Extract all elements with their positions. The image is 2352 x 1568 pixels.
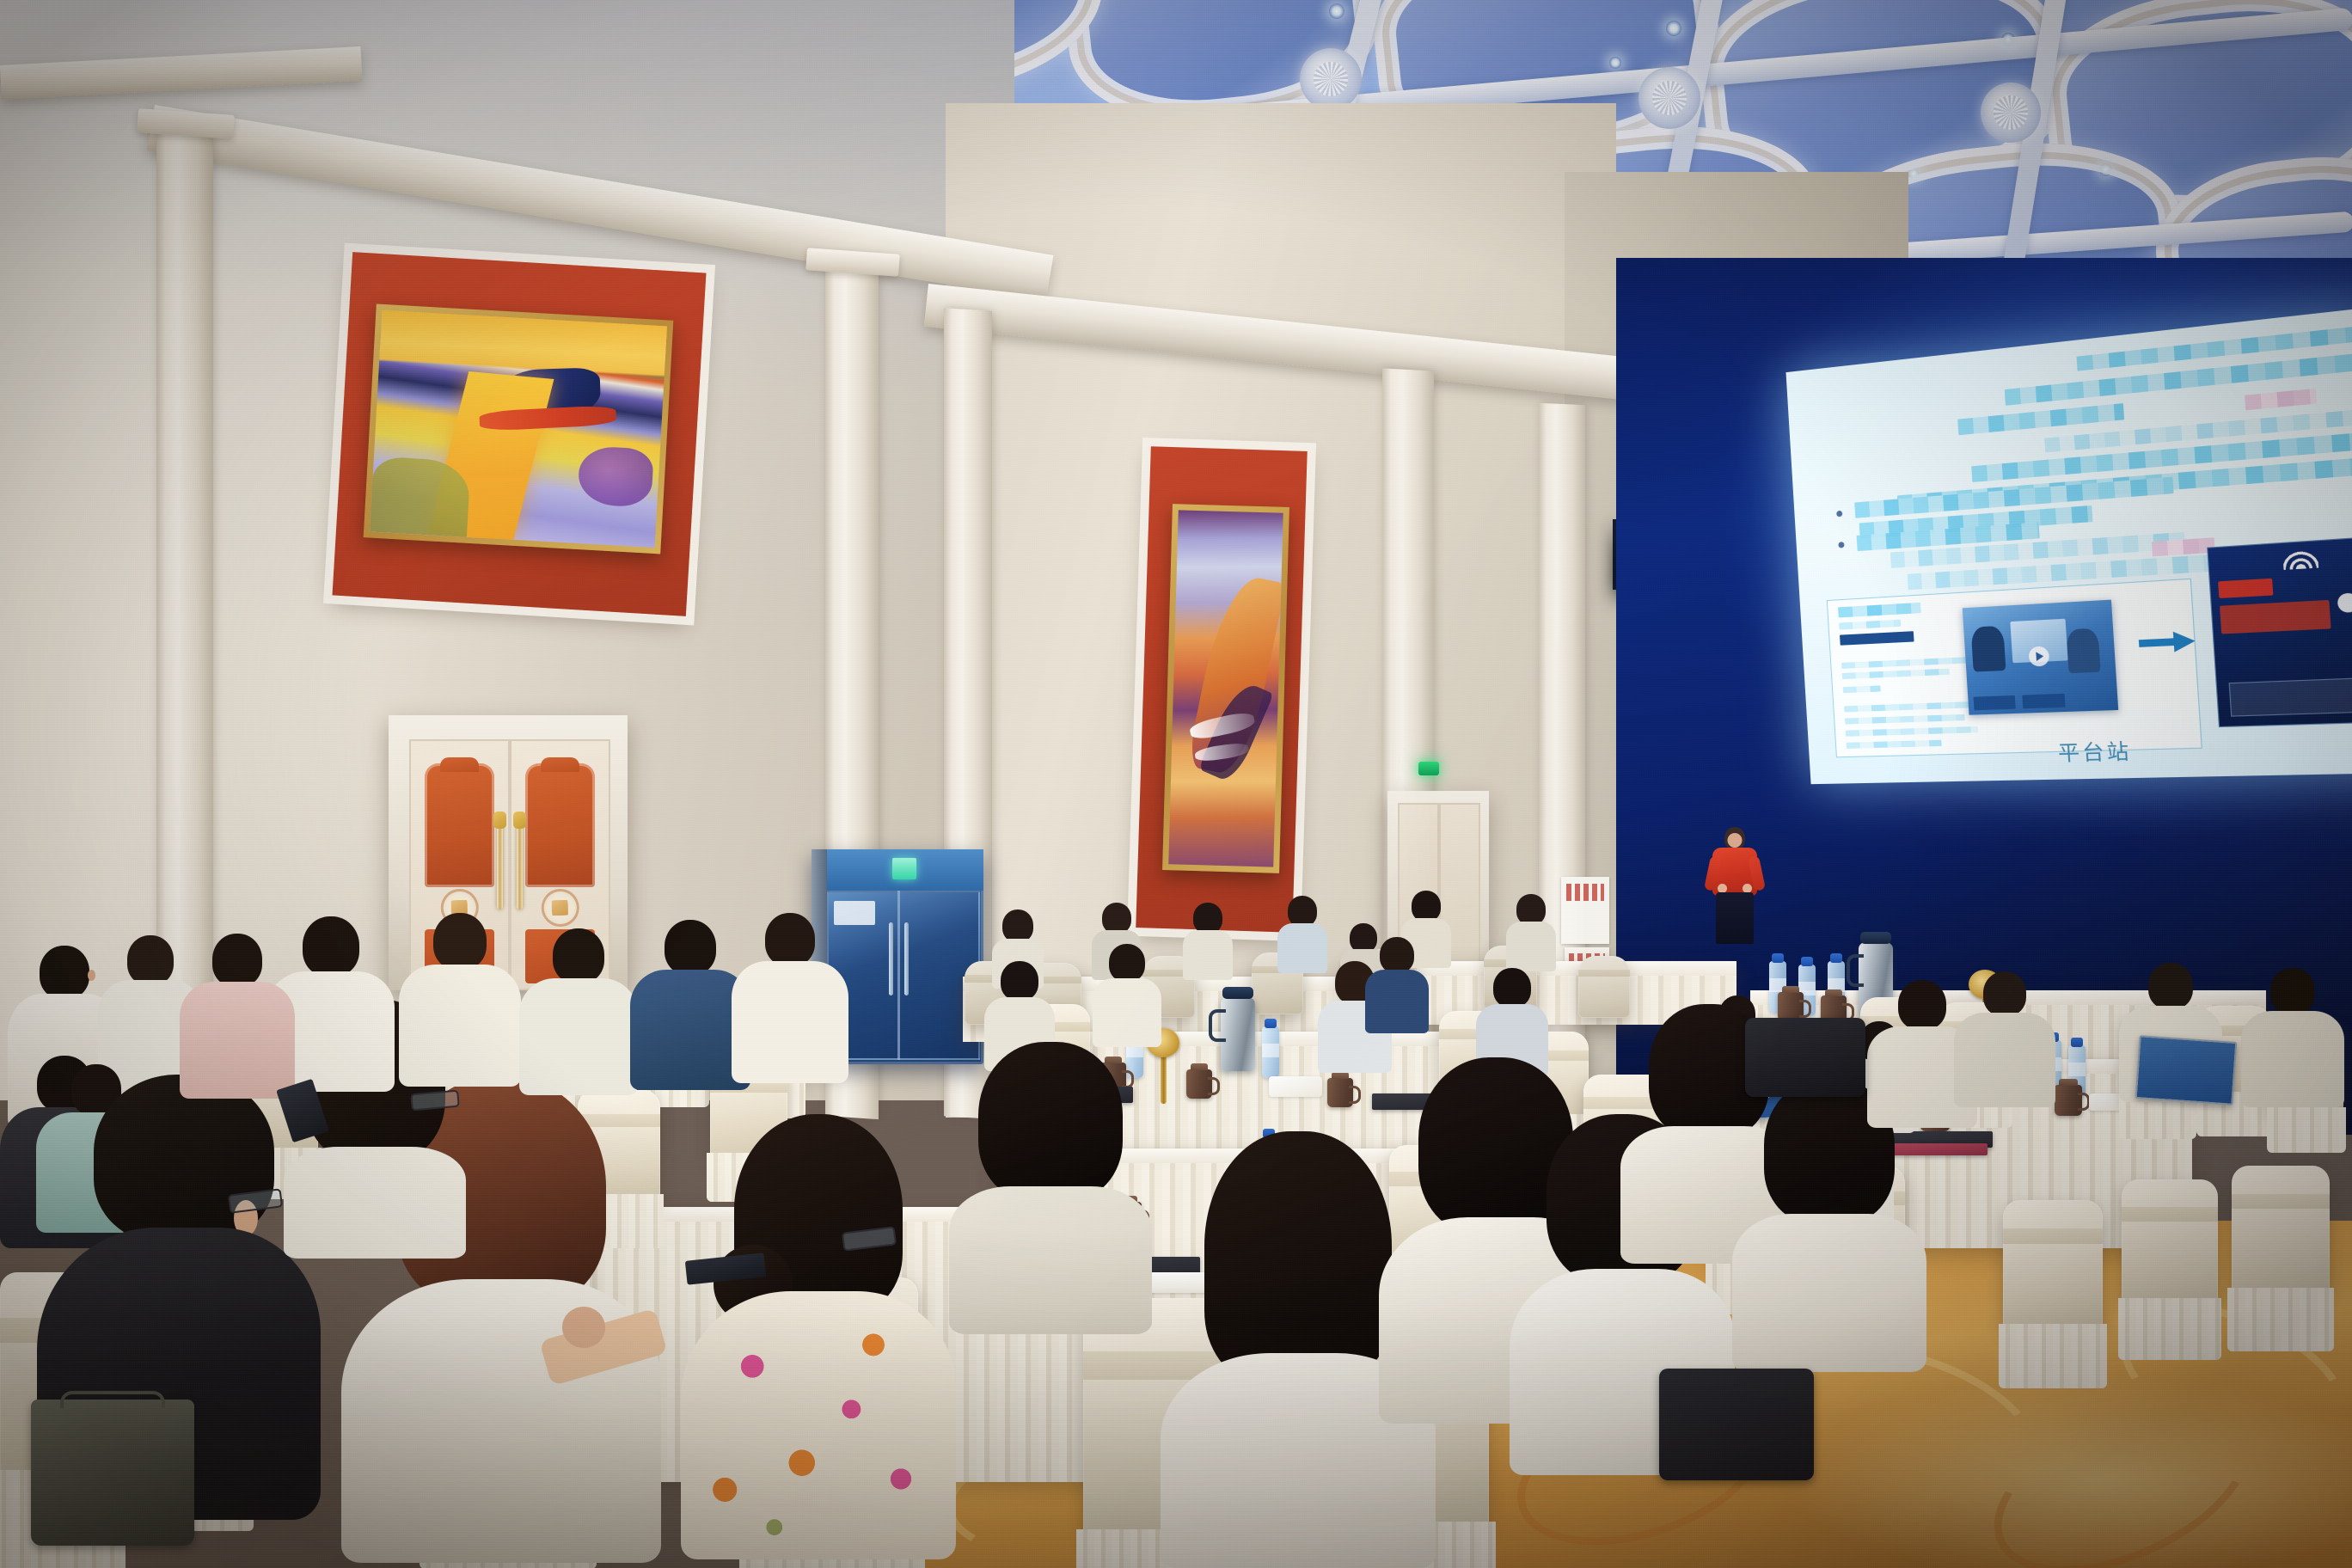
attendee [1958, 971, 2051, 1106]
card-meta-line [1839, 620, 1901, 630]
ceiling-rosette-medallion [1981, 83, 2041, 143]
wall-notice-sign [1561, 877, 1609, 944]
ceiling-rosette-medallion [1300, 48, 1362, 110]
slide-bullet-marker [1836, 511, 1842, 518]
refrigerator-handle[interactable] [889, 922, 893, 995]
conference-hall-photo: 平台站 [0, 0, 2352, 1568]
folded-napkin [1269, 1076, 1322, 1097]
attendee-navy-shirt [636, 920, 744, 1088]
presenter [1709, 827, 1761, 944]
ceiling-downlight [1908, 168, 1919, 179]
photo-action-button [1974, 695, 2016, 710]
slide-bullet-marker [1838, 542, 1844, 548]
play-icon [2028, 646, 2049, 666]
card-body-line [1845, 714, 1965, 725]
banquet-chair[interactable] [1578, 956, 1630, 1018]
attendee [1369, 937, 1425, 1032]
table-number-stand [1161, 1054, 1167, 1104]
slide-arrow-icon [2138, 631, 2196, 654]
thumb-input-box [2229, 677, 2352, 716]
slide-text-highlight [2245, 389, 2317, 410]
slide-screenshot-photo [1963, 600, 2118, 715]
handbag [1659, 1369, 1814, 1480]
attendee [1097, 944, 1157, 1045]
projection-screen: 平台站 [1785, 305, 2352, 784]
ceiling-downlight [1329, 3, 1344, 19]
painting-purple-shape [577, 446, 654, 508]
door-panel [525, 763, 595, 887]
abstract-vertical-painting [1168, 510, 1283, 867]
attendee-floral-blouse [698, 1114, 939, 1561]
tea-cup [1186, 1069, 1212, 1099]
ceiling-downlight [1666, 21, 1681, 36]
painting-frame-horizontal [364, 304, 674, 554]
door-handle[interactable] [497, 825, 503, 910]
refrigerator-door-divider [897, 891, 900, 1061]
backpack [31, 1400, 194, 1546]
thumb-avatar [2337, 592, 2352, 613]
ceiling-downlight [2099, 163, 2112, 176]
ceiling-downlight [2001, 33, 2015, 46]
backpack-strap [60, 1391, 165, 1408]
handbag [1745, 1018, 1865, 1097]
attendee [1508, 894, 1554, 973]
ceiling-downlight [1609, 57, 1621, 69]
card-body-line [1846, 726, 1978, 737]
presenter-face [1728, 833, 1743, 848]
attendee-hand [562, 1307, 605, 1348]
photo-person-silhouette [2066, 628, 2100, 674]
door-medallion [543, 891, 576, 924]
attendee [1185, 903, 1231, 982]
water-bottle [1262, 1026, 1279, 1078]
refrigerator-display [892, 858, 916, 879]
photo-action-button [2022, 694, 2065, 709]
slide-thumbnail-right [2207, 536, 2352, 728]
slide-text-highlight [2152, 537, 2215, 556]
banquet-chair[interactable] [2122, 1179, 2218, 1303]
slide-text-line [1957, 403, 2124, 435]
attendee-white-shirt [404, 913, 516, 1085]
attendee [947, 1042, 1154, 1334]
eyeglasses [410, 1090, 460, 1112]
thermos-flask [1221, 997, 1255, 1071]
painting-frame-vertical [1162, 504, 1289, 873]
card-badge [1840, 631, 1914, 646]
card-body-line [1844, 701, 1984, 713]
door-handle[interactable] [517, 825, 523, 910]
attendee [1279, 896, 1326, 975]
ceiling-rosette-medallion [1638, 67, 1700, 129]
abstract-landscape-painting [370, 310, 667, 548]
emergency-exit-sign [1418, 762, 1439, 775]
attendee-pink-shirt [186, 934, 289, 1097]
wifi-icon [2282, 547, 2318, 570]
door-panel [425, 763, 494, 887]
card-title-line [1838, 603, 1921, 618]
card-body-line [1841, 657, 1972, 669]
attendee-white-shirt [736, 913, 844, 1081]
attendee [2245, 968, 2340, 1106]
refrigerator-handle[interactable] [904, 922, 909, 995]
banquet-chair[interactable] [2003, 1200, 2103, 1329]
thumb-red-badge [2218, 579, 2273, 598]
laptop[interactable] [2135, 1035, 2238, 1106]
card-body-line [1842, 669, 1950, 679]
photo-person-silhouette [1970, 626, 2006, 672]
thumb-red-banner [2220, 600, 2331, 634]
tea-cup [1327, 1078, 1353, 1107]
tea-cup [2055, 1085, 2082, 1116]
banquet-chair[interactable] [2232, 1166, 2330, 1293]
card-body-line [1843, 685, 1881, 693]
presenter-skirt [1716, 892, 1754, 944]
attendee-white-shirt [524, 928, 633, 1093]
